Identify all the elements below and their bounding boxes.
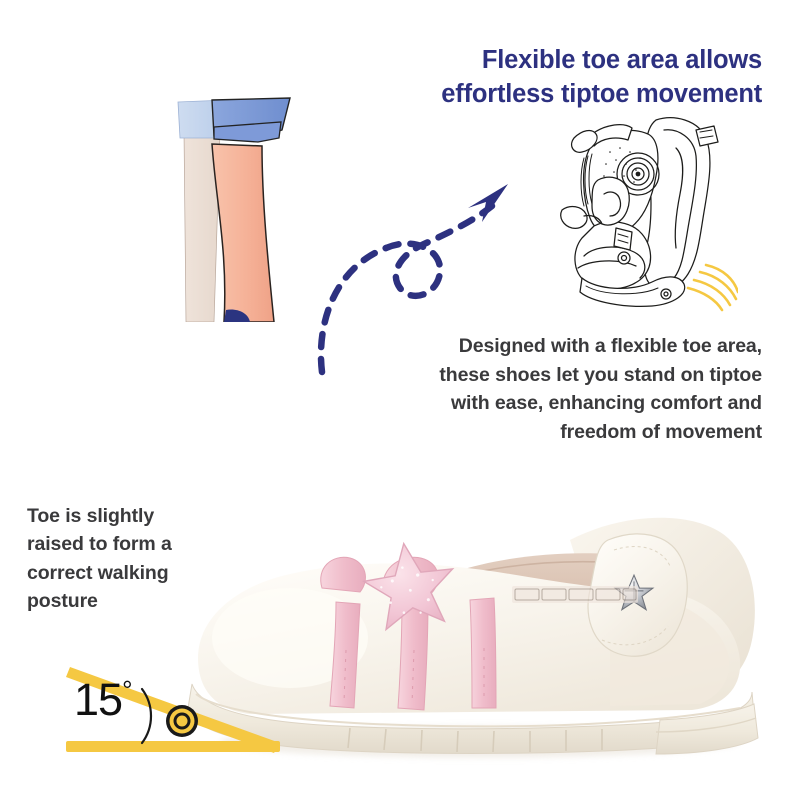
toe-raise-caption: Toe is slightly raised to form a correct… bbox=[27, 502, 247, 615]
size-label bbox=[512, 586, 638, 603]
motion-lines-icon bbox=[688, 265, 738, 310]
infographic-page: Flexible toe area allows effortless tipt… bbox=[0, 0, 800, 800]
caption-line-4: posture bbox=[27, 587, 247, 615]
headline-line-1: Flexible toe area allows bbox=[390, 44, 762, 78]
body-copy-line-4: freedom of movement bbox=[380, 418, 762, 447]
pivot-marker-icon bbox=[166, 705, 198, 737]
sneaker-line-art-icon bbox=[548, 108, 738, 313]
angle-number: 15 bbox=[74, 674, 122, 725]
caption-line-3: correct walking bbox=[27, 559, 247, 587]
angle-indicator: 15° bbox=[56, 655, 286, 760]
body-copy-line-1: Designed with a flexible toe area, bbox=[380, 332, 762, 361]
caption-line-2: raised to form a bbox=[27, 530, 247, 558]
body-copy-line-2: these shoes let you stand on tiptoe bbox=[380, 361, 762, 390]
body-copy: Designed with a flexible toe area, these… bbox=[380, 332, 762, 447]
body-copy-line-3: with ease, enhancing comfort and bbox=[380, 389, 762, 418]
degree-symbol: ° bbox=[122, 675, 131, 705]
headline-line-2: effortless tiptoe movement bbox=[390, 78, 762, 112]
angle-value: 15° bbox=[74, 677, 131, 722]
caption-line-1: Toe is slightly bbox=[27, 502, 247, 530]
headline: Flexible toe area allows effortless tipt… bbox=[390, 44, 762, 111]
